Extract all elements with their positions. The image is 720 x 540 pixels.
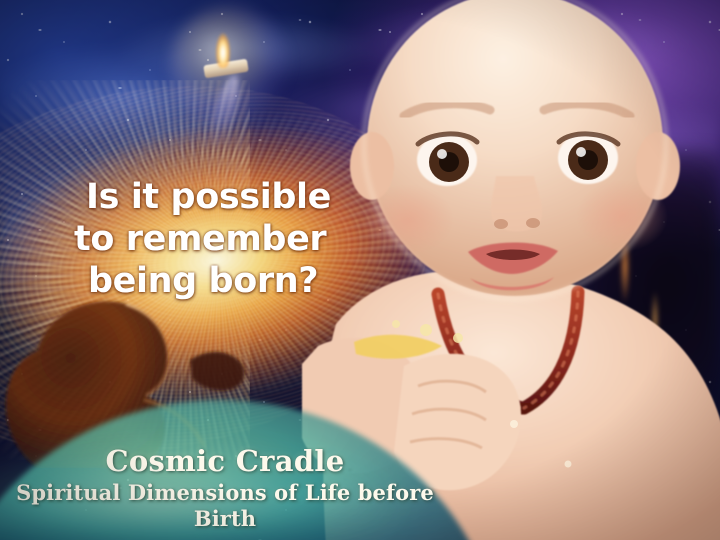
headline-line-1: Is it possible [86,176,404,218]
poster-canvas: Is it possible to remember being born? C… [0,0,720,540]
headline-line-3: being born? [88,260,404,302]
flame-wisps-icon [562,200,712,500]
brand-subtitle: Spiritual Dimensions of Life before Birt… [0,480,450,532]
brand-title: Cosmic Cradle [0,444,450,478]
page-title: Is it possible to remember being born? [74,176,404,302]
candle-icon [196,26,266,116]
brand-block: Cosmic Cradle Spiritual Dimensions of Li… [0,444,450,532]
headline-line-2: to remember [74,218,404,260]
